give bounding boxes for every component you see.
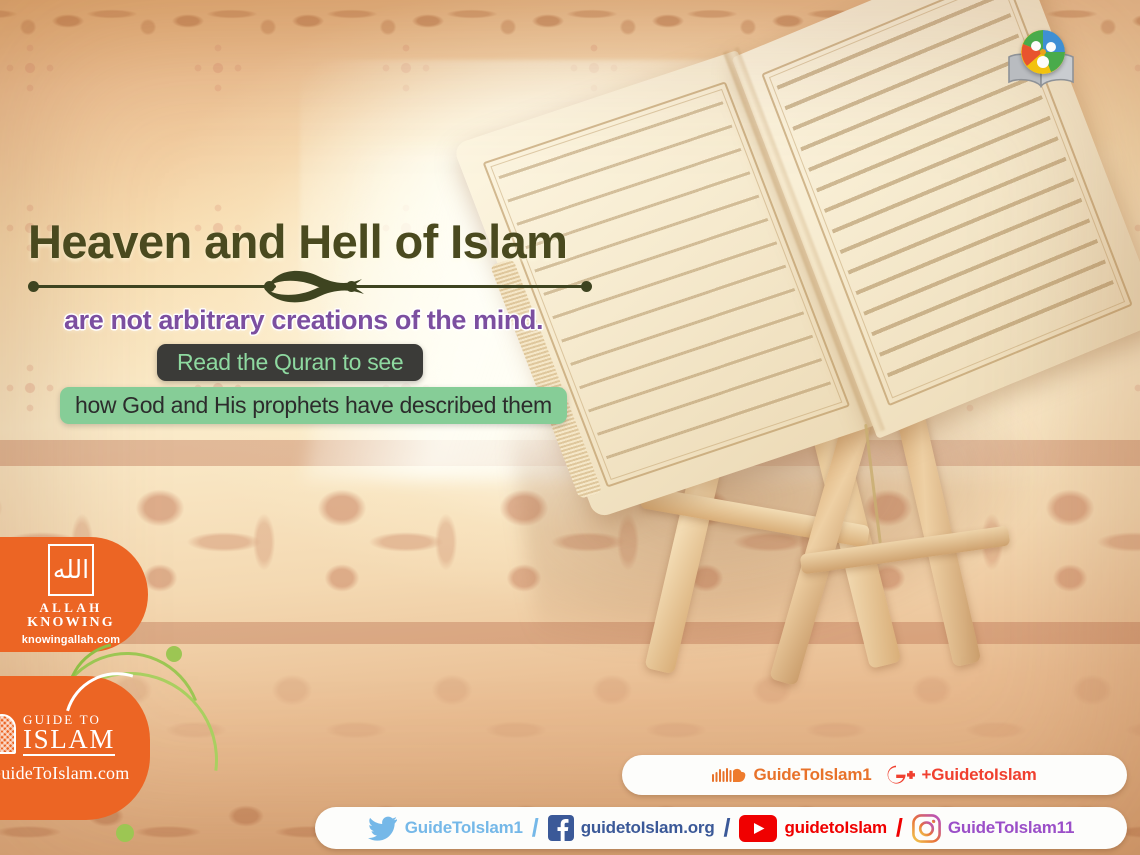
divider-dot: [28, 281, 39, 292]
page-title: Heaven and Hell of Islam: [28, 214, 567, 269]
social-link-googleplus[interactable]: +GuidetoIslam: [885, 764, 1037, 786]
social-bar-bottom: GuideToIslam1 / guidetoIslam.org / guide…: [315, 807, 1127, 849]
mosque-arch-icon: [0, 714, 16, 754]
social-label: GuideToIslam1: [753, 765, 871, 785]
social-link-twitter[interactable]: GuideToIslam1: [368, 816, 523, 841]
divider-line-right: [350, 285, 582, 288]
instagram-icon: [912, 814, 941, 843]
social-label: GuideToIslam1: [405, 818, 523, 838]
social-label: GuideToIslam11: [948, 818, 1074, 838]
google-plus-icon: [885, 764, 915, 786]
logo-line-2: KNOWING: [27, 615, 115, 631]
social-link-youtube[interactable]: guidetoIslam: [739, 815, 886, 842]
social-link-facebook[interactable]: guidetoIslam.org: [548, 815, 715, 841]
separator: /: [532, 814, 539, 843]
twitter-icon: [368, 816, 398, 841]
callout-green: how God and His prophets have described …: [60, 387, 567, 424]
divider-dot: [581, 281, 592, 292]
social-label: guidetoIslam.org: [581, 818, 715, 838]
knowing-allah-logo[interactable]: الله ALLAH KNOWING knowingallah.com: [0, 537, 148, 652]
poster-canvas: Heaven and Hell of Islam are not arbitra…: [0, 0, 1140, 855]
social-label: guidetoIslam: [784, 818, 886, 838]
social-link-instagram[interactable]: GuideToIslam11: [912, 814, 1074, 843]
logo-line-1: ALLAH: [39, 600, 102, 616]
ornamental-divider: [28, 272, 594, 302]
flourish-icon: [260, 266, 370, 308]
facebook-icon: [548, 815, 574, 841]
vine-dot: [116, 824, 134, 842]
colored-globe-icon: [1021, 30, 1065, 74]
youtube-icon: [739, 815, 777, 842]
subtitle-text: are not arbitrary creations of the mind.: [64, 305, 543, 336]
social-label: +GuidetoIslam: [922, 765, 1037, 785]
soundcloud-icon: [712, 766, 746, 784]
separator: /: [724, 814, 731, 843]
vine-dot: [166, 646, 182, 662]
divider-line-left: [36, 285, 276, 288]
callout-dark: Read the Quran to see: [157, 344, 423, 381]
separator: /: [896, 814, 903, 843]
allah-calligraphy-icon: الله: [48, 544, 94, 596]
social-link-soundcloud[interactable]: GuideToIslam1: [712, 765, 871, 785]
social-bar-top: GuideToIslam1 +GuidetoIslam: [622, 755, 1127, 795]
globe-over-open-book-icon[interactable]: [1002, 30, 1080, 92]
